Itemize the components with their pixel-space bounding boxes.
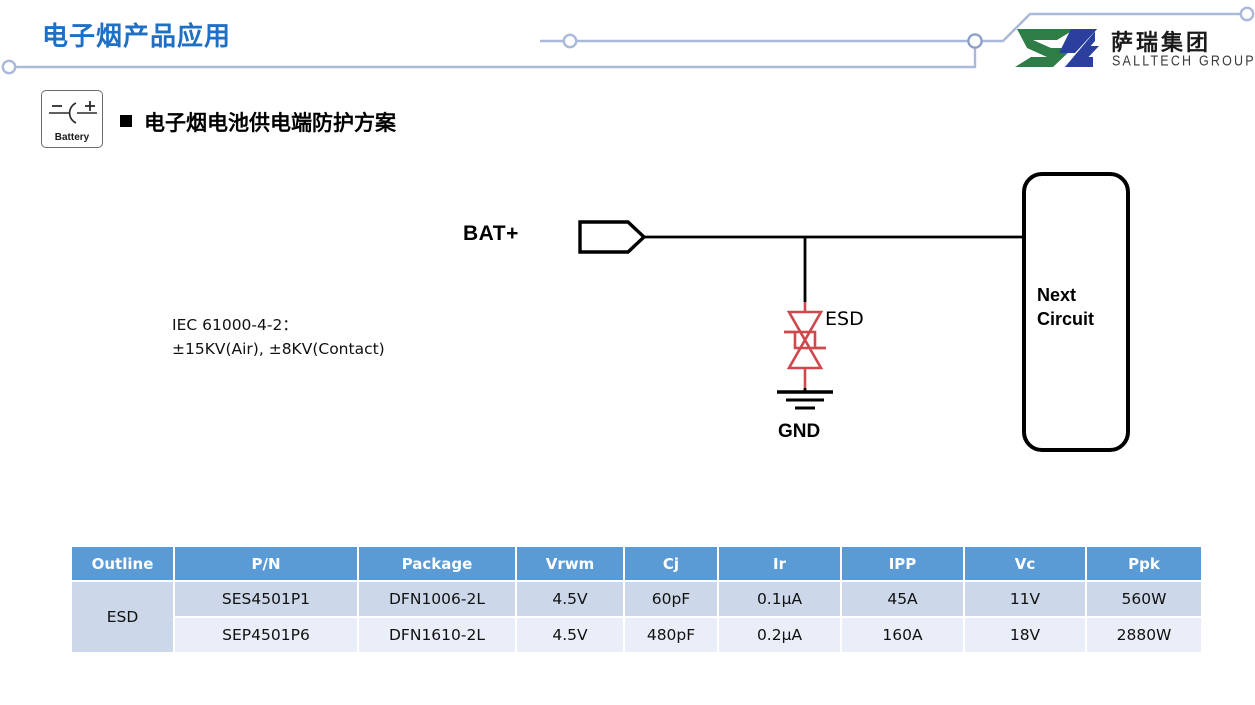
deco-node-circle-right — [968, 34, 981, 47]
cell-outline-group: ESD — [72, 582, 173, 652]
brand-logo: 萨瑞集团 SALLTECH GROUP — [1013, 25, 1245, 71]
battery-icon-label: Battery — [42, 132, 102, 143]
deco-endpoint-circle-mid — [564, 35, 576, 47]
gnd-label: GND — [778, 421, 820, 443]
column-header-ipp[interactable]: IPP — [842, 547, 963, 580]
table-row: SEP4501P6 DFN1610-2L 4.5V 480pF 0.2µA 16… — [72, 618, 1201, 652]
column-header-cj[interactable]: Cj — [625, 547, 717, 580]
cell-pn: SEP4501P6 — [175, 618, 357, 652]
salltech-logo-icon — [1013, 27, 1105, 69]
brand-name-en: SALLTECH GROUP — [1112, 53, 1255, 69]
esd-tvs-diode-symbol — [784, 302, 826, 388]
table-row: ESD SES4501P1 DFN1006-2L 4.5V 60pF 0.1µA… — [72, 582, 1201, 616]
cell-ppk: 2880W — [1087, 618, 1201, 652]
esd-label: ESD — [825, 308, 864, 330]
slide-canvas: 电子烟产品应用 萨瑞集团 SALLTECH GROUP Battery 电子烟电… — [0, 0, 1255, 705]
column-header-ppk[interactable]: Ppk — [1087, 547, 1201, 580]
deco-endpoint-circle-left — [3, 61, 15, 73]
cell-ipp: 45A — [842, 582, 963, 616]
cell-ipp: 160A — [842, 618, 963, 652]
column-header-package[interactable]: Package — [359, 547, 515, 580]
deco-endpoint-circle-far-right — [1241, 8, 1253, 20]
cell-cj: 480pF — [625, 618, 717, 652]
cell-vc: 11V — [965, 582, 1085, 616]
cell-pn: SES4501P1 — [175, 582, 357, 616]
column-header-vc[interactable]: Vc — [965, 547, 1085, 580]
iec-standard-note: IEC 61000-4-2： ±15KV(Air), ±8KV(Contact) — [172, 313, 385, 361]
bat-connector-symbol — [580, 222, 644, 252]
cell-ppk: 560W — [1087, 582, 1201, 616]
cell-ir: 0.2µA — [719, 618, 840, 652]
cell-vrwm: 4.5V — [517, 618, 623, 652]
cell-package: DFN1610-2L — [359, 618, 515, 652]
cell-ir: 0.1µA — [719, 582, 840, 616]
column-header-pn[interactable]: P/N — [175, 547, 357, 580]
next-circuit-label: Next Circuit — [1037, 283, 1094, 331]
next-circuit-label-line-2: Circuit — [1037, 307, 1094, 331]
page-title: 电子烟产品应用 — [42, 16, 231, 53]
iec-note-line-2: ±15KV(Air), ±8KV(Contact) — [172, 337, 385, 361]
column-header-ir[interactable]: Ir — [719, 547, 840, 580]
battery-symbol-icon — [46, 99, 100, 125]
column-header-outline[interactable]: Outline — [72, 547, 173, 580]
battery-icon-chip: Battery — [41, 90, 103, 148]
next-circuit-label-line-1: Next — [1037, 283, 1094, 307]
bat-plus-label: BAT+ — [463, 222, 519, 246]
section-heading: 电子烟电池供电端防护方案 — [144, 107, 396, 137]
cell-package: DFN1006-2L — [359, 582, 515, 616]
iec-note-line-1: IEC 61000-4-2： — [172, 313, 385, 337]
ground-symbol — [777, 388, 833, 408]
cell-cj: 60pF — [625, 582, 717, 616]
cell-vc: 18V — [965, 618, 1085, 652]
cell-vrwm: 4.5V — [517, 582, 623, 616]
bullet-marker-icon — [120, 115, 132, 127]
table-header-row: Outline P/N Package Vrwm Cj Ir IPP Vc Pp… — [72, 547, 1201, 580]
specification-table: Outline P/N Package Vrwm Cj Ir IPP Vc Pp… — [70, 545, 1203, 654]
column-header-vrwm[interactable]: Vrwm — [517, 547, 623, 580]
